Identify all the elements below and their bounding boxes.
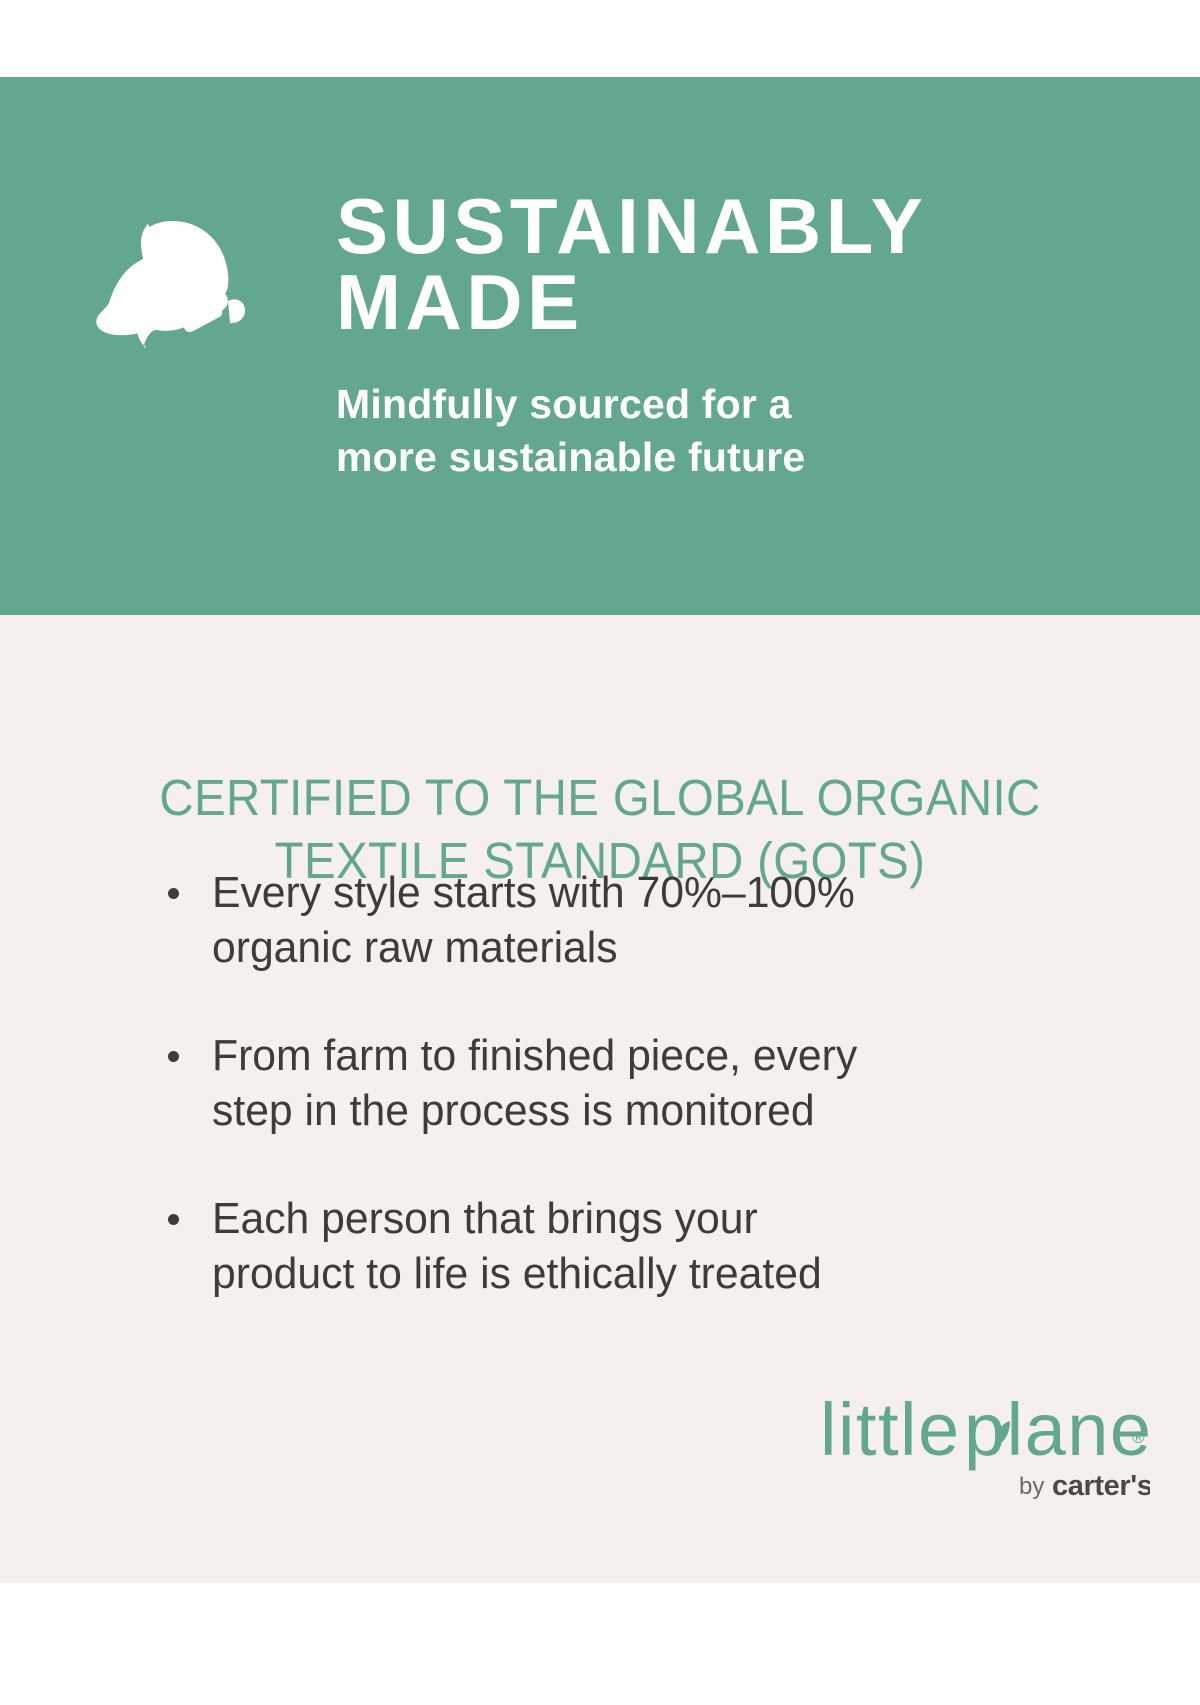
hero-content-row: SUSTAINABLY MADE Mindfully sourced for a… xyxy=(78,189,1118,483)
logo-wordmark-planet: planet xyxy=(964,1388,1150,1471)
bullet-dot-icon xyxy=(168,1214,179,1225)
list-item: Every style starts with 70%–100% organic… xyxy=(168,865,968,976)
info-panel: CERTIFIED TO THE GLOBAL ORGANIC TEXTILE … xyxy=(0,615,1200,1583)
top-white-margin xyxy=(0,0,1200,77)
logo-by-label: by xyxy=(1019,1473,1044,1500)
hero-panel: SUSTAINABLY MADE Mindfully sourced for a… xyxy=(0,77,1200,615)
little-planet-logo: little planet ® by carter's xyxy=(820,1387,1150,1505)
registered-trademark-mark: ® xyxy=(1132,1428,1145,1447)
logo-brand-carters: carter's xyxy=(1052,1470,1150,1502)
logo-artwork: little planet ® by carter's xyxy=(820,1387,1150,1505)
certification-bullet-list: Every style starts with 70%–100% organic… xyxy=(168,865,968,1302)
logo-wordmark-little: little xyxy=(820,1388,961,1471)
bullet-text: From farm to finished piece, every step … xyxy=(212,1028,945,1139)
bullet-text: Every style starts with 70%–100% organic… xyxy=(212,865,945,976)
hero-title: SUSTAINABLY MADE xyxy=(336,189,1118,340)
three-leaves-recycle-icon xyxy=(78,197,256,369)
bullet-dot-icon xyxy=(168,1051,179,1062)
bullet-dot-icon xyxy=(168,888,179,899)
bullet-text: Each person that brings your product to … xyxy=(212,1191,945,1302)
hero-text-block: SUSTAINABLY MADE Mindfully sourced for a… xyxy=(336,189,1118,483)
sustainably-made-infographic: SUSTAINABLY MADE Mindfully sourced for a… xyxy=(0,0,1200,1705)
list-item: From farm to finished piece, every step … xyxy=(168,1028,968,1139)
list-item: Each person that brings your product to … xyxy=(168,1191,968,1302)
bottom-white-margin xyxy=(0,1583,1200,1705)
hero-subtitle: Mindfully sourced for a more sustainable… xyxy=(336,378,1118,483)
